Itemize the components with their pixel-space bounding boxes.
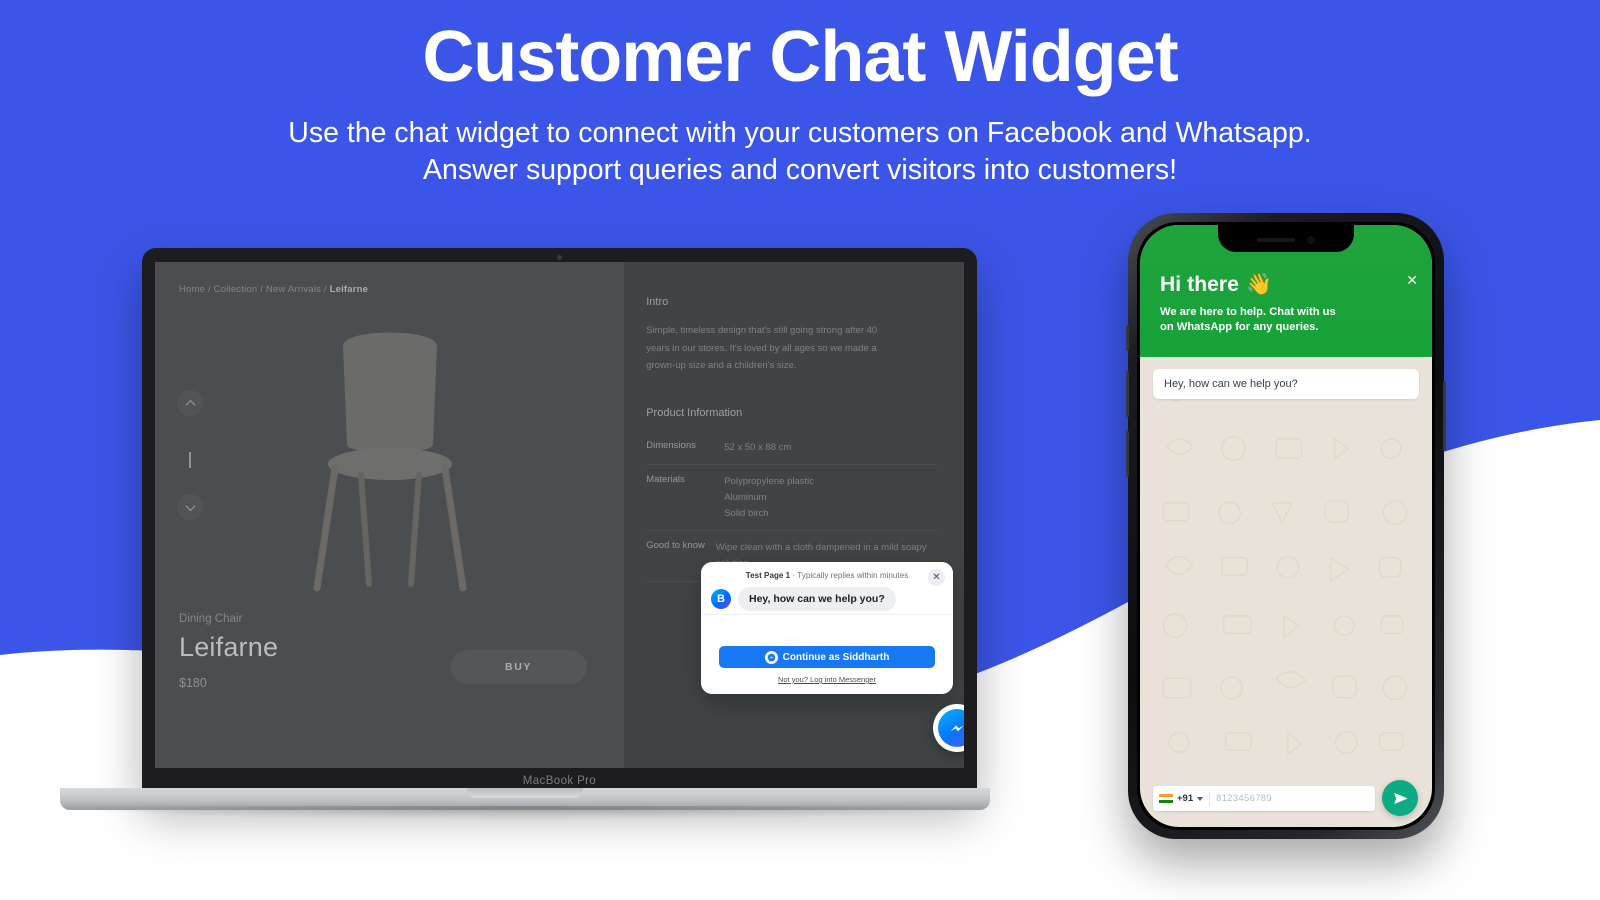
messenger-popup-header: Test Page 1 · Typically replies within m…	[701, 562, 953, 611]
dining-chair-illustration	[265, 316, 515, 606]
breadcrumb-prefix[interactable]: Home / Collection / New Arrivals /	[179, 284, 330, 295]
widget-subtitle: We are here to help. Chat with us on Wha…	[1160, 305, 1352, 335]
product-info-heading: Product Information	[646, 407, 938, 419]
whatsapp-greeting-bubble: Hey, how can we help you?	[1153, 369, 1419, 399]
messenger-icon	[765, 651, 778, 664]
front-camera-icon	[1307, 236, 1315, 244]
phone-bezel: Hi there 👋 We are here to help. Chat wit…	[1137, 222, 1435, 830]
laptop-lid: MacBook Pro Home / Collection / New Arri…	[142, 248, 977, 794]
phone-notch	[1218, 225, 1354, 252]
laptop-mockup: MacBook Pro Home / Collection / New Arri…	[60, 240, 990, 820]
phone-mockup: Hi there 👋 We are here to help. Chat wit…	[1128, 213, 1444, 839]
avatar: B	[711, 589, 731, 609]
messenger-reply-status: · Typically replies within minutes	[790, 571, 908, 580]
subtitle-line-2: Answer support queries and convert visit…	[0, 152, 1600, 188]
mute-switch[interactable]	[1126, 325, 1129, 351]
whatsapp-chat-body: Hey, how can we help you?	[1140, 357, 1432, 785]
volume-up-button[interactable]	[1126, 371, 1129, 417]
messenger-icon	[938, 709, 964, 747]
subtitle-line-1: Use the chat widget to connect with your…	[0, 115, 1600, 151]
divider	[701, 614, 953, 615]
spec-key: Dimensions	[646, 440, 724, 456]
page-header: Customer Chat Widget Use the chat widget…	[0, 0, 1600, 188]
product-visual-column: Home / Collection / New Arrivals / Leifa…	[155, 262, 624, 768]
send-button[interactable]	[1382, 780, 1418, 816]
phone-frame: Hi there 👋 We are here to help. Chat wit…	[1128, 213, 1444, 839]
spec-value: 52 x 50 x 88 cm	[724, 440, 791, 456]
messenger-page-name: Test Page 1	[746, 571, 790, 580]
messenger-popup-footer: Continue as Siddharth Not you? Log into …	[701, 646, 953, 694]
india-flag-icon	[1159, 794, 1173, 804]
send-icon	[1392, 790, 1409, 807]
messenger-greeting-bubble: Hey, how can we help you?	[738, 587, 896, 611]
close-icon[interactable]: ✕	[928, 569, 945, 586]
chevron-down-icon[interactable]	[1197, 797, 1203, 801]
spec-key: Materials	[646, 474, 724, 521]
page-title: Customer Chat Widget	[0, 18, 1600, 97]
widget-greeting: Hi there 👋	[1160, 273, 1412, 297]
waving-hand-icon: 👋	[1246, 273, 1272, 297]
table-row: Dimensions 52 x 50 x 88 cm	[646, 431, 938, 466]
spec-table: Dimensions 52 x 50 x 88 cm Materials Pol…	[646, 431, 938, 582]
close-icon[interactable]: ✕	[1406, 273, 1418, 287]
spec-value: Polypropylene plastic Aluminum Solid bir…	[724, 474, 814, 521]
whatsapp-widget-footer: +91 8123456789	[1140, 767, 1432, 827]
phone-number-input[interactable]: +91 8123456789	[1153, 786, 1375, 811]
whatsapp-doodle-pattern	[1140, 357, 1432, 776]
breadcrumb-current: Leifarne	[330, 284, 369, 295]
breadcrumb: Home / Collection / New Arrivals / Leifa…	[179, 284, 600, 295]
divider	[1209, 792, 1210, 806]
country-code-label[interactable]: +91	[1177, 793, 1193, 804]
intro-text: Simple, timeless design that's still goi…	[646, 322, 881, 375]
laptop-device-label: MacBook Pro	[142, 775, 977, 787]
speaker-icon	[1257, 238, 1295, 243]
continue-as-user-button[interactable]: Continue as Siddharth	[719, 646, 935, 668]
product-category: Dining Chair	[179, 613, 583, 625]
laptop-screen: Home / Collection / New Arrivals / Leifa…	[155, 262, 964, 768]
log-into-messenger-link[interactable]: Not you? Log into Messenger	[719, 675, 935, 684]
buy-button[interactable]: BUY	[451, 650, 587, 684]
power-button[interactable]	[1443, 381, 1446, 451]
phone-screen: Hi there 👋 We are here to help. Chat wit…	[1140, 225, 1432, 827]
messenger-chat-popup[interactable]: Test Page 1 · Typically replies within m…	[701, 562, 953, 694]
intro-heading: Intro	[646, 296, 938, 308]
laptop-shadow	[60, 806, 990, 820]
laptop-base-notch	[467, 788, 583, 798]
phone-input-placeholder[interactable]: 8123456789	[1216, 793, 1272, 804]
volume-down-button[interactable]	[1126, 431, 1129, 477]
widget-greeting-text: Hi there	[1160, 273, 1239, 297]
product-meta: Dining Chair Leifarne $180 BUY	[179, 613, 583, 690]
continue-as-user-label: Continue as Siddharth	[783, 652, 890, 663]
table-row: Materials Polypropylene plastic Aluminum…	[646, 465, 938, 531]
webcam-icon	[557, 255, 562, 260]
messenger-message-row: B Hey, how can we help you?	[711, 587, 943, 611]
product-image	[155, 296, 624, 626]
